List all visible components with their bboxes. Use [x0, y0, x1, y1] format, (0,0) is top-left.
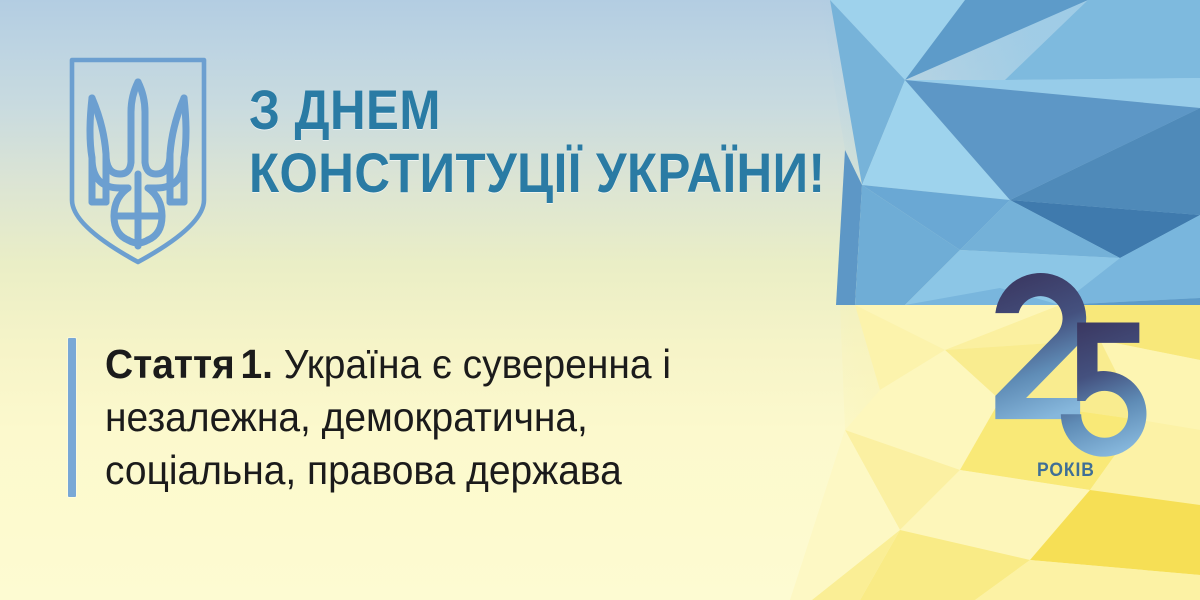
headline-line-2: КОНСТИТУЦІЇ УКРАЇНИ!: [249, 141, 795, 204]
article-label: Стаття: [105, 341, 235, 387]
article-number: 1.: [240, 341, 272, 387]
headline-line-1: З ДНЕМ: [249, 78, 795, 141]
article-quote: Стаття1. Україна є суверенна і незалежна…: [68, 338, 828, 497]
quote-line-1: Стаття1. Україна є суверенна і: [105, 338, 671, 391]
headline: З ДНЕМ КОНСТИТУЦІЇ УКРАЇНИ!: [249, 78, 869, 204]
anniversary-years-label: РОКІВ: [1037, 460, 1095, 482]
poly-group-yellow: [790, 305, 1200, 600]
quote-line-2: незалежна, демократична,: [105, 391, 671, 444]
anniversary-25-logo: [995, 273, 1146, 457]
quote-accent-bar: [68, 338, 76, 497]
ukraine-coat-of-arms-icon: [62, 50, 214, 272]
poly-yellow-field: [790, 305, 1200, 600]
poly-blue-field: [820, 0, 1200, 305]
poly-group-blue: [830, 0, 1200, 305]
quote-text: Стаття1. Україна є суверенна і незалежна…: [76, 338, 701, 497]
quote-line-3: соціальна, правова держава: [105, 444, 671, 497]
quote-line-1-text: Україна є суверенна і: [284, 341, 671, 387]
constitution-day-banner: РОКІВ: [0, 0, 1200, 600]
